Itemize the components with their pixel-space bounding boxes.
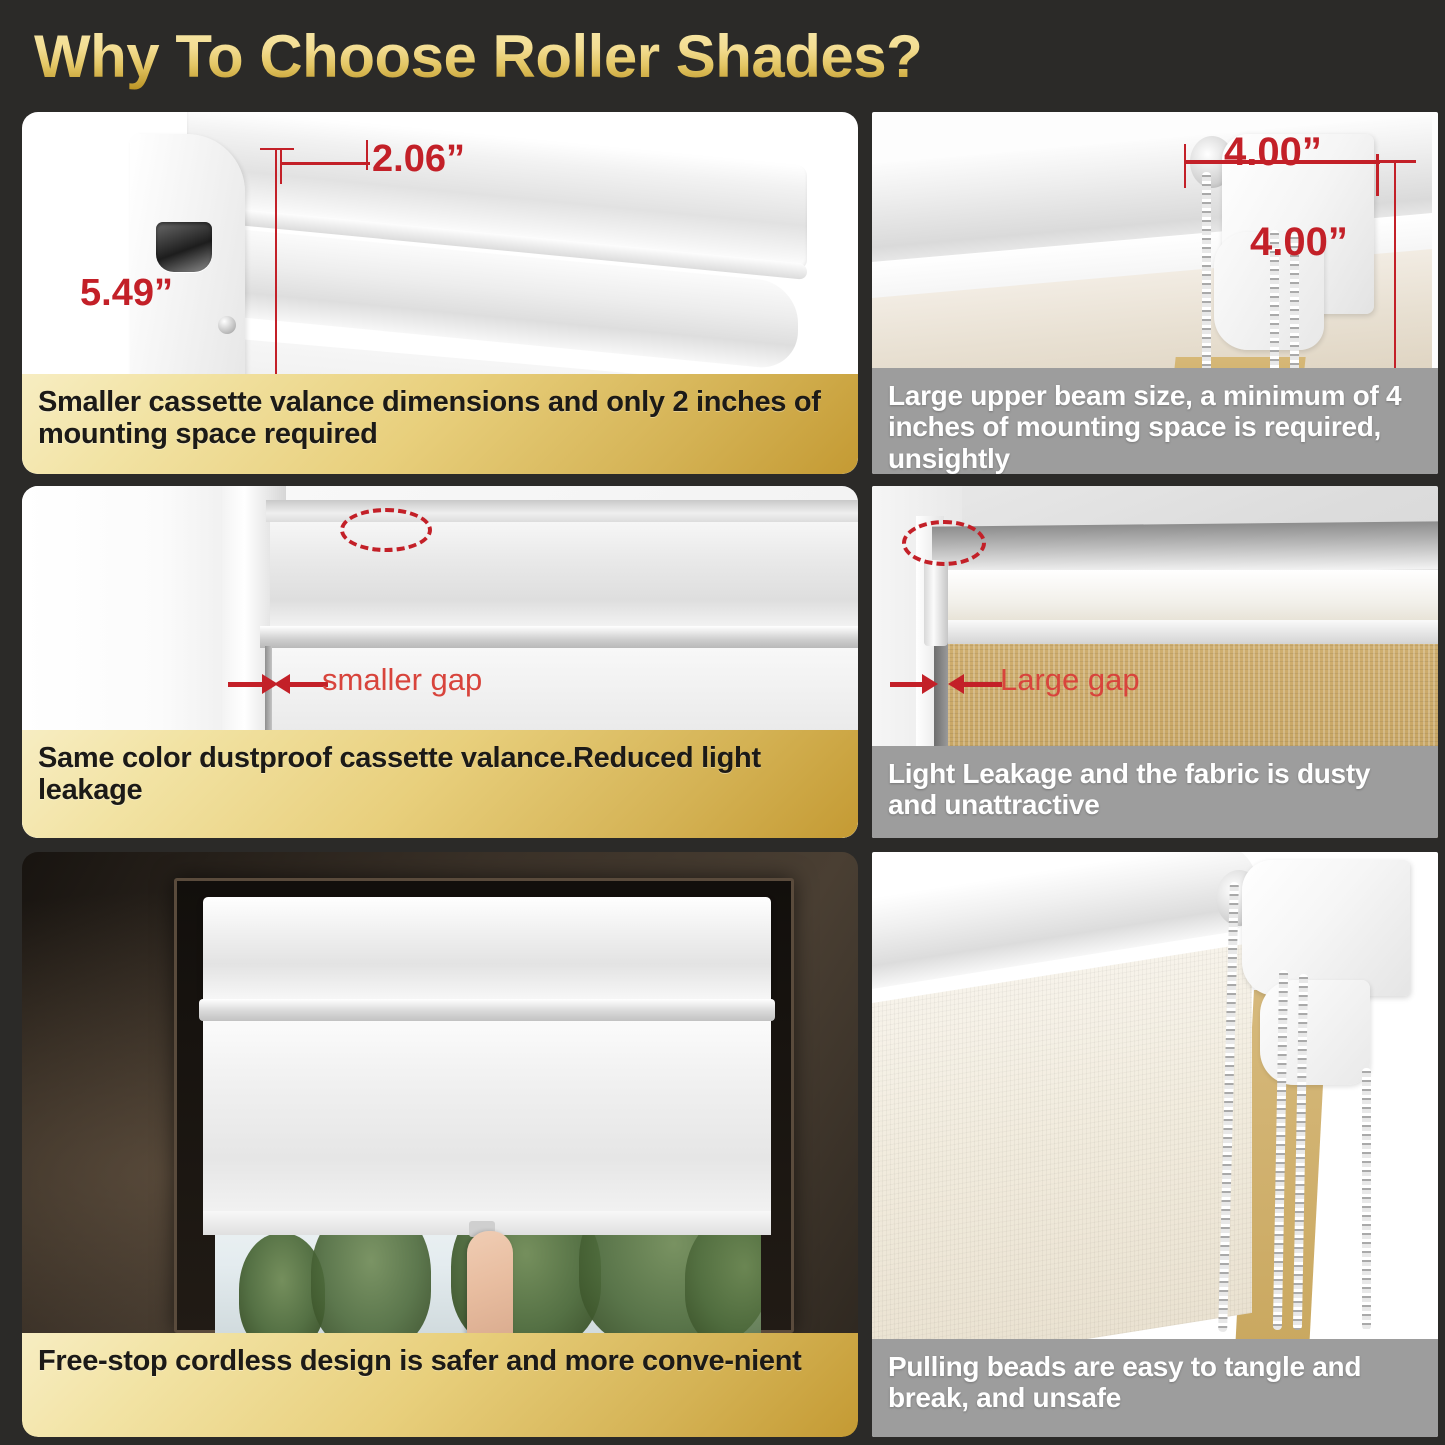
dim-tick-right	[366, 140, 368, 170]
arrow-head-right-icon	[922, 674, 938, 694]
dim-tick-left	[1184, 144, 1186, 188]
panel-pulling-beads[interactable]: Pulling beads are easy to tangle and bre…	[872, 852, 1438, 1437]
arrow-head-left-icon	[948, 674, 964, 694]
panel-smaller-cassette[interactable]: 2.06” 5.49” Smaller cassette valance dim…	[22, 112, 858, 474]
panel-3-caption: Same color dustproof cassette valance.Re…	[22, 730, 858, 838]
dim-tick-top	[1372, 160, 1416, 163]
panel-6-caption: Pulling beads are easy to tangle and bre…	[872, 1339, 1438, 1437]
bracket-slot-icon	[156, 222, 212, 272]
dim-tick-top	[260, 148, 294, 150]
panel-5-caption: Free-stop cordless design is safer and m…	[22, 1333, 858, 1437]
dim-line-vertical	[1394, 160, 1396, 375]
screw-icon	[218, 316, 236, 334]
dimension-label-width: 4.00”	[1224, 130, 1322, 175]
cream-shade-fabric	[872, 943, 1252, 1374]
highlight-ellipse-icon	[340, 508, 432, 552]
window-frame	[174, 878, 794, 1333]
dimension-label-height: 4.00”	[1250, 220, 1348, 265]
bead-bracket	[1242, 860, 1410, 996]
panel-dustproof-valance[interactable]: smaller gap Same color dustproof cassett…	[22, 486, 858, 838]
arrow-head-left-icon	[274, 674, 290, 694]
bead-chain	[1362, 1068, 1371, 1330]
dim-line-horizontal	[280, 162, 370, 165]
dimension-label-height: 5.49”	[80, 272, 173, 315]
page-title: Why To Choose Roller Shades?	[34, 22, 922, 91]
cassette-valance	[203, 897, 771, 1005]
mounting-clip	[924, 560, 948, 646]
dimension-label-width: 2.06”	[372, 138, 465, 181]
gap-label: smaller gap	[322, 662, 482, 698]
panel-light-leakage[interactable]: Large gap Light Leakage and the fabric i…	[872, 486, 1438, 838]
comparison-grid: 2.06” 5.49” Smaller cassette valance dim…	[0, 104, 1445, 1445]
gap-label: Large gap	[1000, 662, 1140, 698]
title-bar: Why To Choose Roller Shades?	[0, 0, 1445, 104]
roller-shade-fabric	[203, 1021, 771, 1233]
arrow-shaft-left	[228, 682, 266, 687]
panel-2-caption: Large upper beam size, a minimum of 4 in…	[872, 368, 1438, 474]
panel-1-caption: Smaller cassette valance dimensions and …	[22, 374, 858, 474]
highlight-ellipse-icon	[902, 520, 986, 566]
dim-tick-left	[280, 148, 282, 184]
arrow-shaft-right	[964, 682, 1002, 687]
panel-4-caption: Light Leakage and the fabric is dusty an…	[872, 746, 1438, 838]
arrow-shaft-left	[890, 682, 926, 687]
panel-cordless-design[interactable]: Free-stop cordless design is safer and m…	[22, 852, 858, 1437]
panel-large-upper-beam[interactable]: 4.00” 4.00” Large upper beam size, a min…	[872, 112, 1438, 474]
